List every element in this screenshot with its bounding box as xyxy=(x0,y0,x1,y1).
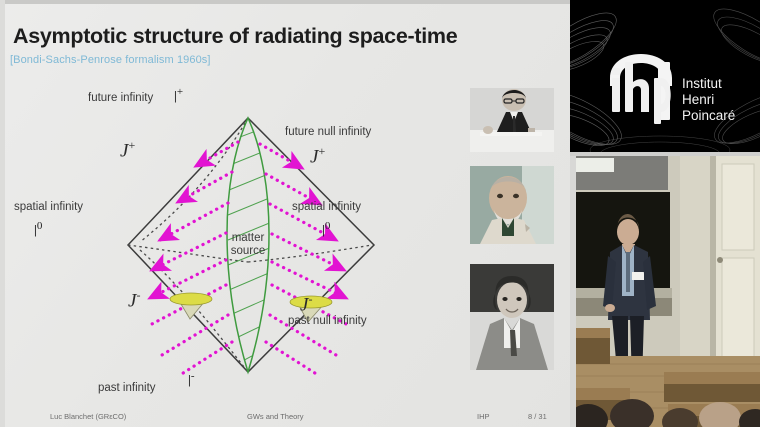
label-spatial-infinity-right: spatial infinity xyxy=(292,201,361,213)
sachs-portrait-image xyxy=(470,166,554,244)
marker-i-plus: |+ xyxy=(174,86,183,104)
ihp-institut-line3: Poincaré xyxy=(682,108,735,124)
label-past-infinity: past infinity xyxy=(98,382,156,394)
i-zero-left-superscript: 0 xyxy=(37,220,43,232)
penrose-diagram: future infinity |+ future null infinity … xyxy=(0,70,460,400)
radiation-rays-upper-left xyxy=(150,142,238,298)
footer-page-number: 8 / 31 xyxy=(528,412,547,421)
bondi-portrait-image xyxy=(470,88,554,152)
matter-source-line2: source xyxy=(231,245,266,257)
slide-top-edge xyxy=(0,0,570,4)
ihp-logo-graphic xyxy=(570,0,760,155)
presentation-recording-frame: Asymptotic structure of radiating space-… xyxy=(0,0,760,427)
i-minus-superscript: - xyxy=(191,370,195,382)
penrose-portrait-image xyxy=(470,264,554,370)
ihp-institut-line2: Henri xyxy=(682,92,714,108)
scri-minus-right: J- xyxy=(300,292,312,316)
marker-i-zero-left: |0 xyxy=(34,220,42,238)
speaker-webcam[interactable] xyxy=(570,156,760,427)
sachs-portrait xyxy=(470,166,554,244)
label-past-null-infinity: past null infinity xyxy=(288,315,367,327)
footer-talk-title: GWs and Theory xyxy=(247,412,304,421)
scri-minus-left: J- xyxy=(128,288,140,312)
label-matter-source: matter source xyxy=(200,232,296,258)
footer-venue: IHP xyxy=(477,412,490,421)
label-future-infinity: future infinity xyxy=(88,92,153,104)
radiation-rays-upper-right xyxy=(260,144,346,298)
scri-plus-right: J+ xyxy=(310,144,325,168)
speaker-webcam-frame xyxy=(570,156,760,427)
marker-i-minus: |- xyxy=(188,370,195,388)
marker-i-zero-right: |0 xyxy=(322,220,330,238)
label-future-null-infinity: future null infinity xyxy=(285,126,371,138)
i-zero-right-superscript: 0 xyxy=(325,220,331,232)
slide-area: Asymptotic structure of radiating space-… xyxy=(0,0,570,427)
scri-plus-left: J+ xyxy=(120,138,135,162)
scri-minus-right-sup: - xyxy=(308,292,312,306)
penrose-portrait xyxy=(470,264,554,370)
scri-plus-left-sup: + xyxy=(128,138,135,152)
slide-subtitle: [Bondi-Sachs-Penrose formalism 1960s] xyxy=(10,54,211,66)
slide-title: Asymptotic structure of radiating space-… xyxy=(13,24,457,49)
footer-author: Luc Blanchet (GRεCO) xyxy=(50,412,126,421)
name-badge xyxy=(632,272,644,280)
bondi-portrait xyxy=(470,88,554,152)
scri-plus-right-sup: + xyxy=(318,144,325,158)
scri-minus-left-sup: - xyxy=(136,288,140,302)
video-left-edge xyxy=(570,156,576,427)
ihp-logo-panel: Institut Henri Poincaré xyxy=(570,0,760,155)
light-cone-left xyxy=(170,293,212,319)
i-plus-superscript: + xyxy=(177,86,183,98)
right-panel: Institut Henri Poincaré xyxy=(570,0,760,427)
matter-source-line1: matter xyxy=(232,232,265,244)
label-spatial-infinity-left: spatial infinity xyxy=(14,201,83,213)
ihp-institut-line1: Institut xyxy=(682,76,722,92)
